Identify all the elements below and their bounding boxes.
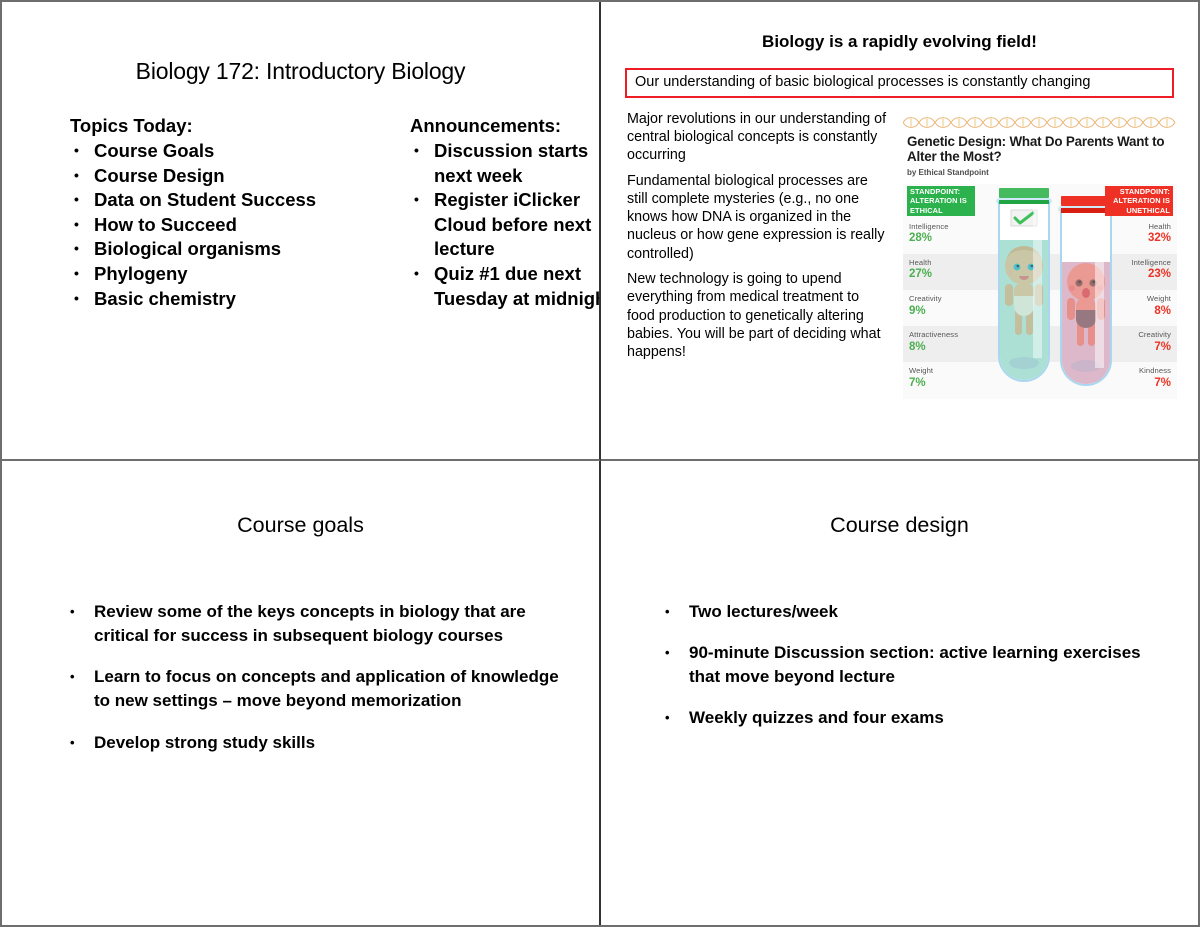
list-item: •Learn to focus on concepts and applicat…	[68, 665, 565, 713]
slide-title: Biology 172: Introductory Biology Topics…	[2, 2, 601, 461]
highlight-banner: Our understanding of basic biological pr…	[625, 68, 1174, 98]
list-item-label: Phylogeny	[94, 263, 188, 284]
title-slide-columns: Topics Today: •Course Goals •Course Desi…	[2, 115, 599, 311]
bullet-icon: •	[74, 139, 79, 163]
chart-cell-left: Attractiveness 8%	[909, 330, 958, 354]
chart-cell-right: Health 32%	[1148, 222, 1171, 246]
infographic-card: Genetic Design: What Do Parents Want to …	[903, 116, 1177, 399]
bullet-icon: •	[74, 237, 79, 261]
list-item-label: Two lectures/week	[689, 602, 838, 621]
list-item-label: Biological organisms	[94, 238, 281, 259]
list-item: •Phylogeny	[70, 262, 338, 287]
page-title: Biology 172: Introductory Biology	[2, 58, 599, 85]
slide-handout-page: Biology 172: Introductory Biology Topics…	[0, 0, 1200, 927]
category-label: Kindness	[1139, 366, 1171, 375]
category-label: Intelligence	[909, 222, 949, 231]
list-item-label: Weekly quizzes and four exams	[689, 708, 944, 727]
list-item-label: Discussion starts next week	[434, 140, 588, 186]
list-item: •Weekly quizzes and four exams	[663, 706, 1158, 730]
list-item: •Register iClicker Cloud before next lec…	[410, 188, 601, 262]
value-label: 23%	[1131, 267, 1171, 282]
page-title: Course goals	[2, 513, 599, 538]
list-item-label: Basic chemistry	[94, 288, 236, 309]
slide-body: Major revolutions in our understanding o…	[601, 110, 1198, 399]
chart-cell-right: Weight 8%	[1147, 294, 1171, 318]
value-label: 7%	[1138, 340, 1171, 355]
body-text: Major revolutions in our understanding o…	[627, 110, 889, 369]
bullet-icon: •	[74, 164, 79, 188]
category-label: Health	[1148, 222, 1171, 231]
course-design-list: •Two lectures/week •90-minute Discussion…	[601, 600, 1198, 731]
bullet-icon: •	[414, 139, 419, 163]
list-item-label: Learn to focus on concepts and applicati…	[94, 667, 559, 710]
value-label: 7%	[1139, 376, 1171, 391]
list-item: •90-minute Discussion section: active le…	[663, 641, 1158, 689]
list-item: •Discussion starts next week	[410, 139, 601, 188]
infographic-headline: Genetic Design: What Do Parents Want to …	[907, 134, 1177, 164]
list-item: •Quiz #1 due next Tuesday at midnight	[410, 262, 601, 311]
category-label: Creativity	[909, 294, 942, 303]
slide-course-goals: Course goals •Review some of the keys co…	[2, 461, 601, 925]
list-item-label: 90-minute Discussion section: active lea…	[689, 643, 1141, 686]
dna-strand-icon	[903, 116, 1177, 129]
page-title: Course design	[601, 513, 1198, 538]
topics-list: •Course Goals •Course Design •Data on St…	[70, 139, 338, 311]
category-label: Weight	[909, 366, 933, 375]
list-item: •Basic chemistry	[70, 287, 338, 312]
infographic-chart: Intelligence 28% Health 32%	[903, 184, 1177, 399]
bullet-icon: •	[665, 706, 670, 730]
announcements-column: Announcements: •Discussion starts next w…	[410, 115, 601, 311]
value-label: 7%	[909, 376, 933, 391]
infographic-byline: by Ethical Standpoint	[907, 168, 1177, 177]
value-label: 9%	[909, 304, 942, 319]
bullet-icon: •	[414, 262, 419, 286]
list-item-label: Course Goals	[94, 140, 214, 161]
bullet-icon: •	[665, 641, 670, 665]
list-item-label: Develop strong study skills	[94, 733, 315, 752]
bullet-icon: •	[74, 188, 79, 212]
list-item: •Biological organisms	[70, 237, 338, 262]
list-item: •How to Succeed	[70, 213, 338, 238]
standpoint-ethical-tag: STANDPOINT: ALTERATION IS ETHICAL	[907, 186, 975, 216]
list-item: •Review some of the keys concepts in bio…	[68, 600, 565, 648]
bullet-icon: •	[70, 600, 75, 624]
paragraph: Fundamental biological processes are sti…	[627, 172, 889, 263]
bullet-icon: •	[74, 262, 79, 286]
list-item-label: How to Succeed	[94, 214, 237, 235]
category-label: Weight	[1147, 294, 1171, 303]
chart-cell-left: Health 27%	[909, 258, 932, 282]
value-label: 32%	[1148, 231, 1171, 246]
standpoint-unethical-tag: STANDPOINT: ALTERATION IS UNETHICAL	[1105, 186, 1173, 216]
announcements-heading: Announcements:	[410, 115, 601, 137]
list-item: •Two lectures/week	[663, 600, 1158, 624]
slide-evolving-field: Biology is a rapidly evolving field! Our…	[601, 2, 1198, 461]
chart-cell-left: Weight 7%	[909, 366, 933, 390]
bullet-icon: •	[70, 731, 75, 755]
list-item-label: Register iClicker Cloud before next lect…	[434, 189, 591, 259]
chart-cell-right: Creativity 7%	[1138, 330, 1171, 354]
category-label: Attractiveness	[909, 330, 958, 339]
bullet-icon: •	[70, 665, 75, 689]
test-tube-unethical-illustration	[1055, 188, 1117, 388]
bullet-icon: •	[74, 213, 79, 237]
list-item: •Data on Student Success	[70, 188, 338, 213]
paragraph: Major revolutions in our understanding o…	[627, 110, 889, 165]
list-item-label: Data on Student Success	[94, 189, 316, 210]
list-item-label: Course Design	[94, 165, 225, 186]
test-tube-ethical-illustration	[993, 188, 1055, 388]
category-label: Health	[909, 258, 932, 267]
bullet-icon: •	[665, 600, 670, 624]
list-item: •Develop strong study skills	[68, 731, 565, 755]
chart-cell-left: Creativity 9%	[909, 294, 942, 318]
value-label: 28%	[909, 231, 949, 246]
paragraph: New technology is going to upend everyth…	[627, 270, 889, 361]
topics-heading: Topics Today:	[70, 115, 338, 137]
course-goals-list: •Review some of the keys concepts in bio…	[2, 600, 599, 755]
slide-course-design: Course design •Two lectures/week •90-min…	[601, 461, 1198, 925]
slide-grid: Biology 172: Introductory Biology Topics…	[2, 2, 1198, 925]
list-item: •Course Goals	[70, 139, 338, 164]
list-item-label: Quiz #1 due next Tuesday at midnight	[434, 263, 601, 309]
bullet-icon: •	[414, 188, 419, 212]
value-label: 8%	[909, 340, 958, 355]
bullet-icon: •	[74, 287, 79, 311]
chart-cell-right: Intelligence 23%	[1131, 258, 1171, 282]
list-item: •Course Design	[70, 164, 338, 189]
value-label: 8%	[1147, 304, 1171, 319]
chart-cell-right: Kindness 7%	[1139, 366, 1171, 390]
page-title: Biology is a rapidly evolving field!	[601, 32, 1198, 52]
value-label: 27%	[909, 267, 932, 282]
announcements-list: •Discussion starts next week •Register i…	[410, 139, 601, 311]
chart-cell-left: Intelligence 28%	[909, 222, 949, 246]
topics-column: Topics Today: •Course Goals •Course Desi…	[70, 115, 338, 311]
list-item-label: Review some of the keys concepts in biol…	[94, 602, 526, 645]
category-label: Intelligence	[1131, 258, 1171, 267]
genetic-design-infographic: Genetic Design: What Do Parents Want to …	[903, 116, 1177, 399]
category-label: Creativity	[1138, 330, 1171, 339]
